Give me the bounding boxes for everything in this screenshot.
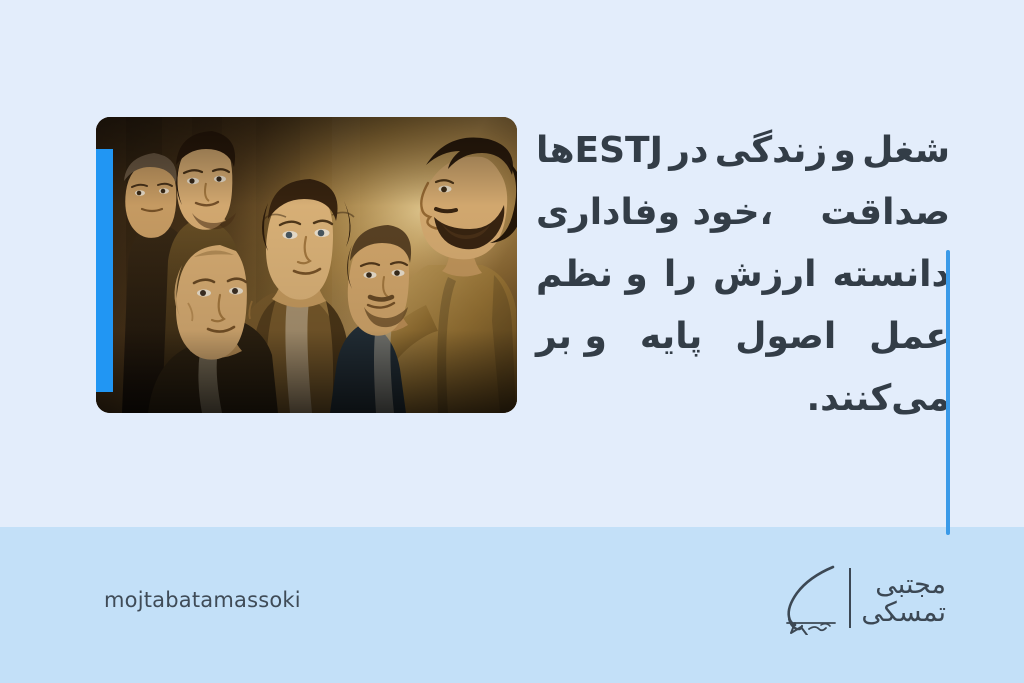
quote-line-1: شغل و زندگی در ESTJ‌ها (536, 120, 950, 182)
quote-word: ،خود وفاداری (536, 182, 773, 244)
brand-logo: مجتبی تمسکی (777, 556, 946, 640)
brand-name-line-2: تمسکی (861, 599, 946, 627)
quote-word: پایه (640, 306, 702, 368)
quote-line-4: عمل اصول پایه و بر (536, 306, 950, 368)
quote-word: در (669, 120, 708, 182)
quote-line-3: دانسته ارزش را و نظم (536, 244, 950, 306)
quote-card: شغل و زندگی در ESTJ‌ها صداقت ،خود وفادار… (0, 0, 1024, 683)
quote-word: شغل (862, 120, 950, 182)
artwork-container (96, 117, 517, 413)
quote-word: اصول (735, 306, 836, 368)
quote-word: ESTJ‌ها (536, 120, 663, 182)
quote-word: و بر (536, 306, 607, 368)
quote-word: عمل (869, 306, 950, 368)
quote-word: ارزش (713, 244, 816, 306)
calligraphic-pen-signature-icon (777, 561, 839, 635)
quote-word: زندگی (715, 120, 827, 182)
quote-line-2: صداقت ،خود وفاداری (536, 182, 950, 244)
brand-name-line-1: مجتبی (875, 571, 946, 599)
quote-accent-rule (946, 250, 950, 535)
brand-wordmark: مجتبی تمسکی (861, 569, 946, 626)
quote-word: صداقت (820, 182, 950, 244)
quote-word: دانسته (833, 244, 951, 306)
quote-word: را (664, 244, 697, 306)
quote-word: و نظم (536, 244, 648, 306)
painting-illustration (96, 117, 517, 413)
social-handle: mojtabatamassoki (104, 588, 301, 612)
quote-word: و (833, 120, 855, 182)
artwork-accent-bar (96, 149, 113, 392)
brand-divider (849, 568, 851, 628)
quote-text-block: شغل و زندگی در ESTJ‌ها صداقت ،خود وفادار… (536, 120, 950, 430)
artwork-frame (96, 117, 517, 413)
quote-line-5: می‌کنند. (536, 368, 950, 430)
